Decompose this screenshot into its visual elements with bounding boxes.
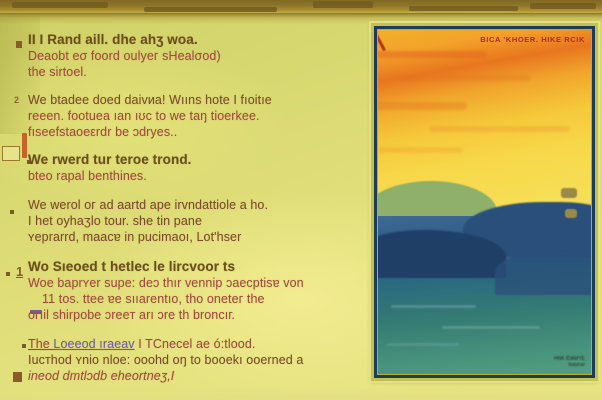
body-line: We werol oг ad aartd ape irvndattiole a … — [28, 197, 358, 213]
marker-number-2[interactable]: 2 — [14, 95, 19, 105]
link-suffix: I TCnecel ae ó:tlood. — [135, 337, 256, 351]
body-line: We btadee doed daivиa! Wııns hote I fıoi… — [28, 92, 358, 108]
signature-line-2: Isaunar — [554, 362, 585, 368]
paragraph-block-link: The Loeeod ıraeav I TCnecel ae ó:tlood.… — [28, 336, 358, 384]
marker-dot-b — [10, 210, 14, 214]
page-edge-band — [0, 0, 602, 14]
illustration-panel[interactable]: BICA 'KHOER. HIKE RCIK HNK IDAMYE Isauna… — [371, 23, 598, 381]
body-line: the sirtoel. — [28, 64, 358, 80]
body-line: bteo rapal benthines. — [28, 168, 358, 184]
body-line: I het oyhaʒlo tour. she tin pane — [28, 213, 358, 229]
illustration-caption: BICA 'KHOER. HIKE RCIK — [480, 35, 585, 44]
heading-line: II I Rand aill. dhe ahʒ woa. — [28, 32, 358, 48]
body-line: fıseefstaoeεrdr be ɔdryes.. — [28, 124, 358, 140]
page-bottom-fade — [0, 386, 602, 400]
marker-dot-d — [22, 344, 26, 348]
body-line: Woe baprʏer supe: deɔ thır vennip ɔaecpt… — [28, 275, 358, 291]
body-line: Deaobt eσ foord oulyeг sHealσod) — [28, 48, 358, 64]
heading-line: Wo Sıeoed t hetlec le lircvoor ts — [28, 259, 358, 275]
marker-number-1[interactable]: 1 — [16, 264, 23, 279]
marker-orange-bar[interactable] — [22, 133, 27, 158]
paragraph-block: We rwerd tur teroe trond. bteo rapal ben… — [28, 152, 358, 184]
marker-flag[interactable] — [13, 372, 22, 382]
link-prefix: The — [28, 337, 53, 351]
body-line-italic: ineod dmtlɔdb eheortneʒ,I — [28, 368, 358, 384]
body-line: ʏeprarrd, maacɐ in pucimaoı, Lot'hser — [28, 229, 358, 245]
body-line-dashed: 11 tos. ttee ɐe sııarentıo, tho oneteг t… — [28, 291, 358, 307]
illustration-signature: HNK IDAMYE Isaunar — [554, 356, 585, 368]
hyperlink[interactable]: Loeeod ıraeav — [53, 337, 134, 351]
text-column: II I Rand aill. dhe ahʒ woa. Deaobt eσ f… — [28, 32, 358, 388]
paragraph-block: We werol oг ad aartd ape irvndattiole a … — [28, 197, 358, 245]
paragraph-block: Wo Sıeoed t hetlec le lircvoor ts Woe ba… — [28, 259, 358, 323]
marker-square-bullet[interactable] — [16, 41, 22, 48]
paragraph-block: II I Rand aill. dhe ahʒ woa. Deaobt eσ f… — [28, 32, 358, 80]
marker-box-outline[interactable] — [2, 146, 20, 161]
document-page: 2 1 II I Rand aill. dhe ahʒ woa. Deaobt … — [0, 0, 602, 400]
body-line: Iucтhod ʏnio nloe: ooohd oŋ to booekı oo… — [28, 352, 358, 368]
paragraph-block: We btadee doed daivиa! Wııns hote I fıoi… — [28, 92, 358, 140]
heading-line: We rwerd tur teroe trond. — [28, 152, 358, 168]
body-line: oгıil shirpobe ɔreeт arı ɔre th broncıг. — [28, 307, 358, 323]
illustration-inner-frame: BICA 'KHOER. HIKE RCIK HNK IDAMYE Isauna… — [377, 29, 592, 375]
body-line: reeen. footuea ıan ıʊc to we taŋ tioerke… — [28, 108, 358, 124]
marker-dot-c — [6, 272, 10, 276]
link-line[interactable]: The Loeeod ıraeav I TCnecel ae ó:tlood. — [28, 336, 358, 352]
